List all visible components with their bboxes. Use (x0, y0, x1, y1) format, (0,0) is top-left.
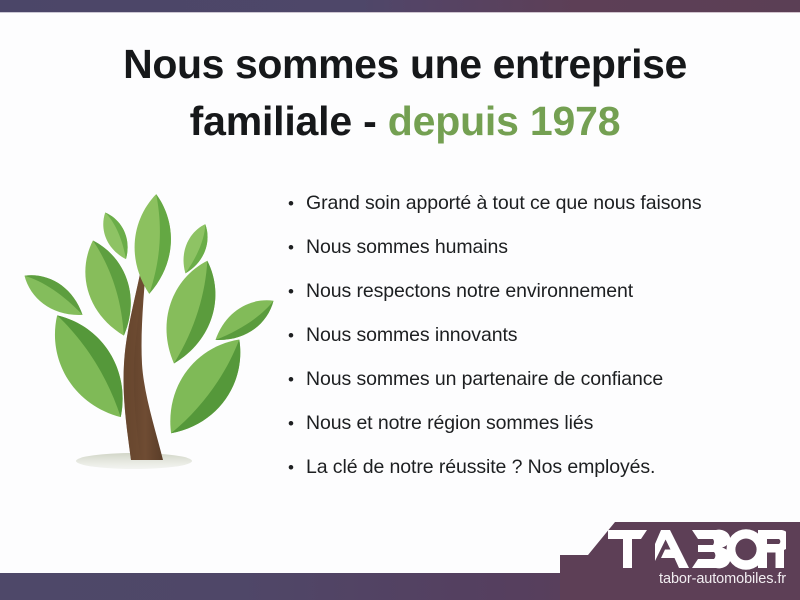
list-item: • Nous et notre région sommes liés (286, 411, 776, 455)
bullet-marker-icon: • (286, 235, 306, 260)
list-item: • Nous sommes un partenaire de confiance (286, 367, 776, 411)
list-item: • Nous sommes humains (286, 235, 776, 279)
page-title: Nous sommes une entreprise familiale - d… (60, 36, 750, 149)
bullet-marker-icon: • (286, 323, 306, 348)
list-item-label: Nous sommes humains (306, 235, 508, 260)
list-item: • Grand soin apporté à tout ce que nous … (286, 191, 776, 235)
brand-logo: tabor-automobiles.fr (606, 528, 786, 587)
bullet-marker-icon: • (286, 279, 306, 304)
top-accent-band (0, 0, 800, 12)
presentation-slide: Nous sommes une entreprise familiale - d… (0, 0, 800, 600)
bullet-marker-icon: • (286, 191, 306, 216)
title-line-1: Nous sommes une entreprise (60, 36, 750, 93)
list-item-label: Nous et notre région sommes liés (306, 411, 593, 436)
title-line-2: familiale - depuis 1978 (60, 93, 750, 150)
list-item: • Nous respectons notre environnement (286, 279, 776, 323)
bullet-marker-icon: • (286, 367, 306, 392)
list-item-label: Nous respectons notre environnement (306, 279, 633, 304)
title-line-2-accent: depuis 1978 (388, 98, 621, 144)
brand-website-label: tabor-automobiles.fr (606, 571, 786, 587)
list-item-label: La clé de notre réussite ? Nos employés. (306, 455, 655, 480)
list-item-label: Grand soin apporté à tout ce que nous fa… (306, 191, 702, 216)
bullet-marker-icon: • (286, 455, 306, 480)
list-item: • La clé de notre réussite ? Nos employé… (286, 455, 776, 499)
bullet-marker-icon: • (286, 411, 306, 436)
tree-svg (14, 192, 276, 480)
list-item-label: Nous sommes innovants (306, 323, 517, 348)
list-item-label: Nous sommes un partenaire de confiance (306, 367, 663, 392)
tree-illustration (14, 192, 276, 480)
list-item: • Nous sommes innovants (286, 323, 776, 367)
benefits-list: • Grand soin apporté à tout ce que nous … (286, 191, 776, 499)
title-line-2-plain: familiale - (190, 98, 388, 144)
brand-logo-panel: tabor-automobiles.fr (560, 522, 800, 600)
top-band-hairline (0, 12, 800, 13)
tabor-wordmark-logo (606, 528, 786, 570)
